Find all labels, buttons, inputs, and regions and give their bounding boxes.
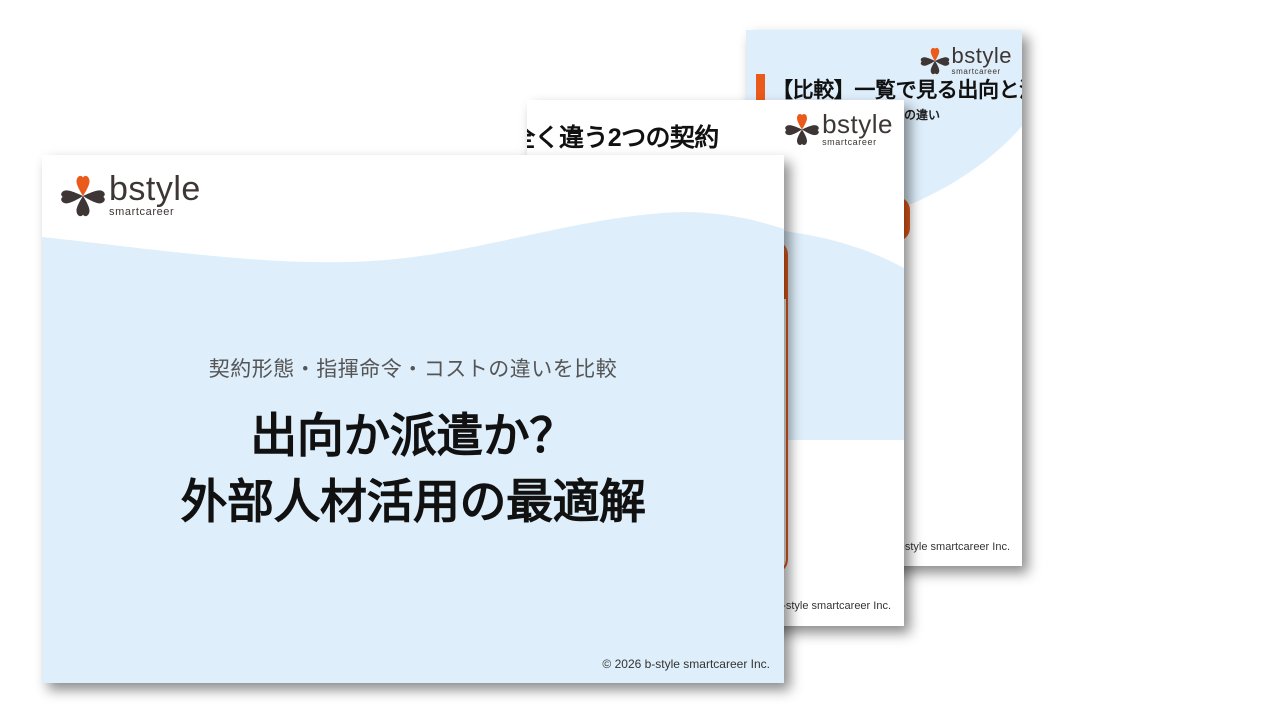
- cover-text-block: 契約形態・指揮命令・コストの違いを比較 出向か派遣か？ 外部人材活用の最適解: [42, 155, 784, 683]
- brand-tagline: smartcareer: [952, 67, 1001, 76]
- slide2-title: 【基礎知識】似ているようで全く違う2つの契約: [527, 118, 719, 154]
- brand-tagline: smartcareer: [822, 137, 877, 147]
- cover-title-line-1: 出向か派遣か？: [42, 397, 784, 466]
- bstyle-clover-logo-icon: [918, 46, 952, 76]
- brand-name: bstyle: [952, 46, 1012, 67]
- brand-name: bstyle: [822, 112, 893, 137]
- slide-cover-front[interactable]: bstyle smartcareer 契約形態・指揮命令・コストの違いを比較 出…: [42, 155, 784, 683]
- cover-subtitle: 契約形態・指揮命令・コストの違いを比較: [42, 353, 784, 383]
- cover-title-line-2: 外部人材活用の最適解: [42, 463, 784, 532]
- slide-deck-stage: 【比較】一覧で見る出向と派遣 責任の所在とコスト構造の違い bstyle sma…: [0, 0, 1280, 720]
- bstyle-logo: bstyle smartcareer: [918, 46, 1012, 76]
- bstyle-logo: bstyle smartcareer: [782, 112, 893, 147]
- slide1-copyright: © 2026 b-style smartcareer Inc.: [602, 657, 770, 671]
- bstyle-clover-logo-icon: [782, 112, 822, 147]
